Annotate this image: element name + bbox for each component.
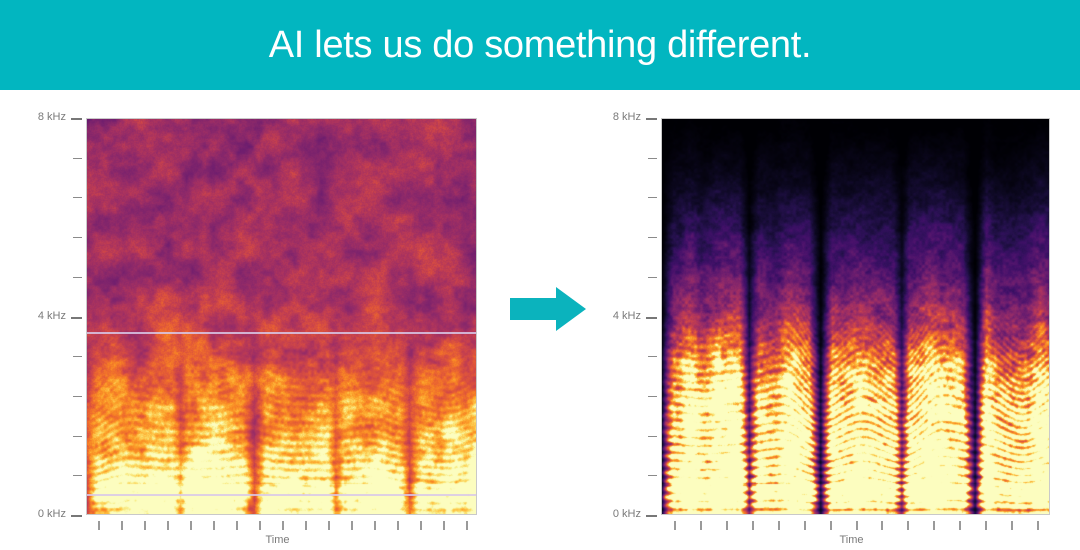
header-banner: AI lets us do something different. [0, 0, 1080, 90]
x-axis-tick [959, 521, 961, 530]
y-axis-minor-tick [648, 158, 657, 159]
x-axis-tick [752, 521, 754, 530]
x-axis-tick [700, 521, 702, 530]
y-axis-minor-tick [648, 197, 657, 198]
y-axis-minor-tick [73, 158, 82, 159]
x-axis-label-right: Time [840, 534, 864, 546]
x-axis-tick [466, 521, 468, 530]
x-axis-tick [305, 521, 307, 530]
noisy-spectrogram-image [87, 119, 476, 514]
page-title: AI lets us do something different. [269, 24, 812, 67]
panel-noisy-spectrogram: 8 kHz4 kHz0 kHz Time [0, 90, 500, 550]
y-axis-major-tick [646, 317, 657, 319]
x-axis-tick [167, 521, 169, 530]
x-axis-tick [374, 521, 376, 530]
y-axis-major-tick [71, 317, 82, 319]
x-axis-tick [121, 521, 123, 530]
x-axis-tick [397, 521, 399, 530]
y-axis-major-tick [646, 515, 657, 517]
y-axis-label: 4 kHz [18, 310, 66, 322]
y-axis-minor-tick [73, 237, 82, 238]
x-axis-tick [443, 521, 445, 530]
x-axis-tick [726, 521, 728, 530]
x-axis-tick [674, 521, 676, 530]
y-axis-major-tick [71, 515, 82, 517]
y-axis-label: 0 kHz [593, 508, 641, 520]
enhanced-spectrogram-plot [661, 118, 1050, 515]
figure-area: 8 kHz4 kHz0 kHz Time 8 kHz4 kHz0 kHz Tim… [0, 90, 1080, 550]
x-axis-tick [213, 521, 215, 530]
y-axis-minor-tick [648, 277, 657, 278]
x-axis-tick [907, 521, 909, 530]
y-axis-minor-tick [648, 436, 657, 437]
y-axis-label: 0 kHz [18, 508, 66, 520]
y-axis-minor-tick [648, 237, 657, 238]
x-axis-tick [144, 521, 146, 530]
noisy-spectrogram-plot [86, 118, 477, 515]
x-axis-tick [236, 521, 238, 530]
y-axis-minor-tick [648, 356, 657, 357]
x-axis-tick [778, 521, 780, 530]
y-axis-minor-tick [648, 396, 657, 397]
y-axis-minor-tick [73, 197, 82, 198]
x-axis-tick [804, 521, 806, 530]
x-axis-label-left: Time [266, 534, 290, 546]
y-axis-label: 8 kHz [18, 111, 66, 123]
enhanced-spectrogram-image [662, 119, 1049, 514]
y-axis-label: 8 kHz [593, 111, 641, 123]
x-axis-tick [98, 521, 100, 530]
x-axis-tick [830, 521, 832, 530]
x-axis-tick [856, 521, 858, 530]
y-axis-label: 4 kHz [593, 310, 641, 322]
x-axis-tick [985, 521, 987, 530]
y-axis-major-tick [646, 118, 657, 120]
x-axis-tick [190, 521, 192, 530]
x-axis-tick [282, 521, 284, 530]
x-axis-tick [1011, 521, 1013, 530]
x-axis-tick [1037, 521, 1039, 530]
x-axis-tick [933, 521, 935, 530]
x-axis-tick [881, 521, 883, 530]
y-axis-major-tick [71, 118, 82, 120]
x-axis-tick [259, 521, 261, 530]
x-axis-tick [351, 521, 353, 530]
y-axis-minor-tick [73, 436, 82, 437]
y-axis-minor-tick [73, 475, 82, 476]
panel-enhanced-spectrogram: 8 kHz4 kHz0 kHz Time [575, 90, 1080, 550]
x-axis-tick [420, 521, 422, 530]
y-axis-minor-tick [73, 277, 82, 278]
y-axis-minor-tick [73, 396, 82, 397]
y-axis-minor-tick [648, 475, 657, 476]
y-axis-minor-tick [73, 356, 82, 357]
x-axis-tick [328, 521, 330, 530]
